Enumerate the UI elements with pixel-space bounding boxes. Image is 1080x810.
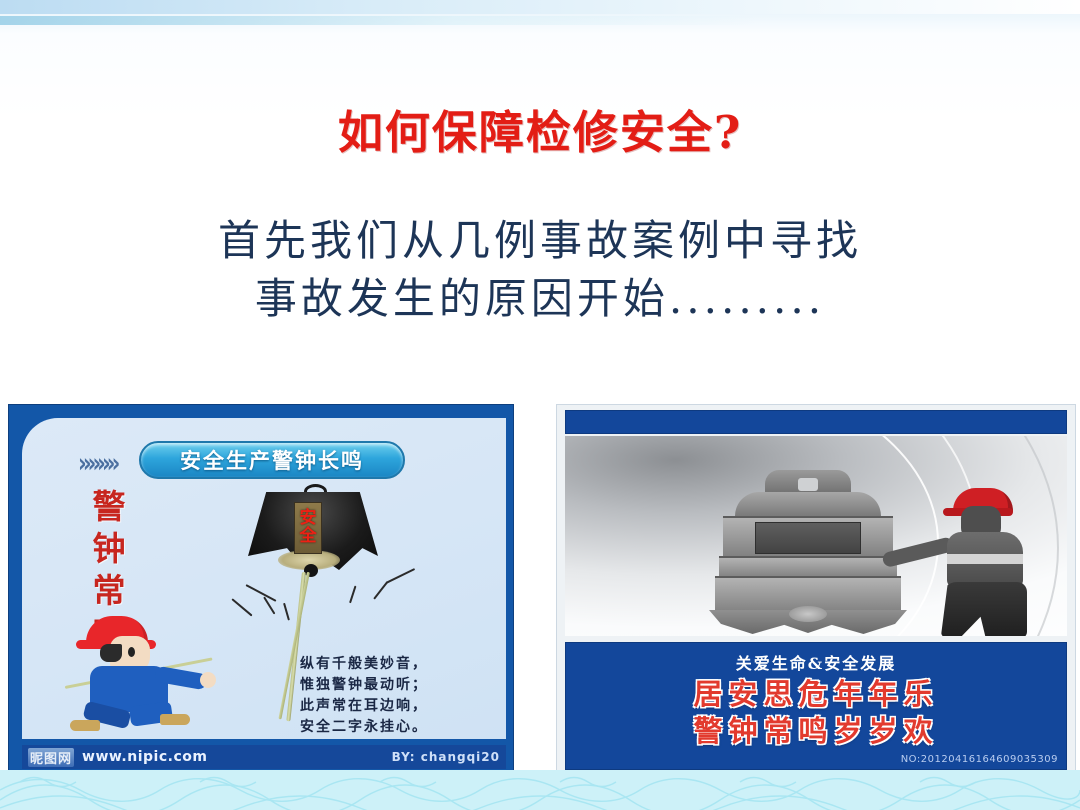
poster-right-subtitle: 关爱生命&安全发展 — [736, 650, 896, 674]
poster-left-poem: 纵有千般美妙音， 惟独警钟最动听； 此声常在耳边响， 安全二字永挂心。 — [300, 654, 490, 738]
subtitle-line-1: 首先我们从几例事故案例中寻找 — [218, 216, 862, 265]
chevron-right-icon: »»»» — [78, 448, 116, 478]
bell-label-char-2: 全 — [300, 528, 317, 546]
worker-eye — [128, 647, 135, 657]
bottom-wave-decoration — [0, 770, 1080, 810]
nipic-logo: 昵图网 — [28, 748, 74, 767]
worker-belt — [947, 554, 1023, 564]
slogan-char-2: 钟 — [88, 528, 130, 570]
poster-left-canvas: »»»» 安全生产警钟长鸣 警 钟 常 鸣 安 全 — [22, 418, 506, 739]
poster-right-top-bar — [565, 410, 1067, 434]
sound-ray — [386, 568, 416, 584]
worker-shoe-left — [70, 720, 100, 731]
sound-ray — [283, 603, 290, 621]
cartoon-bell-icon: 安 全 — [218, 476, 408, 636]
sound-ray — [246, 584, 277, 602]
poem-line: 惟独警钟最动听； — [300, 675, 490, 696]
wave-pattern-icon — [0, 770, 1080, 810]
cartoon-worker — [60, 614, 240, 739]
ancient-bell-photo — [693, 470, 923, 620]
sound-ray — [373, 581, 388, 600]
poster-left-banner-text: 安全生产警钟长鸣 — [180, 445, 364, 475]
poem-line: 安全二字永挂心。 — [300, 717, 490, 738]
slide-background: 如何保障检修安全? 首先我们从几例事故案例中寻找 事故发生的原因开始......… — [0, 0, 1080, 810]
poster-left-banner: 安全生产警钟长鸣 — [139, 441, 405, 479]
nipic-url: www.nipic.com — [82, 749, 207, 765]
top-accent-streak — [0, 16, 756, 25]
poster-left-footer: 昵图网 www.nipic.com BY: changqi20 — [22, 745, 506, 769]
slogan-char-3: 常 — [88, 570, 130, 612]
author-credit: BY: changqi20 — [392, 750, 500, 764]
subtitle-line-2: 事故发生的原因开始......... — [0, 270, 1080, 328]
worker-shoe-right — [160, 714, 190, 725]
bell-strike-boss — [789, 606, 827, 622]
poster-row: »»»» 安全生产警钟长鸣 警 钟 常 鸣 安 全 — [0, 404, 1080, 776]
poem-line: 纵有千般美妙音， — [300, 654, 490, 675]
poster-right-safety-bell: 关爱生命&安全发展 居安思危年年乐 警钟常鸣岁岁欢 NO:20120416164… — [556, 404, 1076, 776]
worker-legs-silhouette — [941, 582, 1027, 636]
poster-left-safety-bell: »»»» 安全生产警钟长鸣 警 钟 常 鸣 安 全 — [8, 404, 514, 776]
poster-right-headline-line-1: 居安思危年年乐 — [693, 677, 938, 711]
sound-ray — [349, 586, 356, 604]
page-subtitle: 首先我们从几例事故案例中寻找 事故发生的原因开始......... — [0, 212, 1080, 328]
page-title: 如何保障检修安全? — [0, 96, 1080, 161]
poem-line: 此声常在耳边响， — [300, 696, 490, 717]
bell-label-plate: 安 全 — [294, 502, 322, 554]
bell-panel — [755, 522, 861, 554]
worker-hand — [200, 672, 216, 688]
poster-right-photo — [565, 436, 1067, 636]
worker-hair — [100, 644, 122, 662]
poster-right-serial-number: NO:20120416164609035309 — [901, 754, 1058, 765]
top-gradient-band — [0, 0, 1080, 14]
poster-right-caption-panel: 关爱生命&安全发展 居安思危年年乐 警钟常鸣岁岁欢 NO:20120416164… — [565, 642, 1067, 770]
slogan-char-1: 警 — [88, 486, 130, 528]
poster-right-headline-line-2: 警钟常鸣岁岁欢 — [693, 714, 938, 748]
worker-striking-bell — [931, 488, 1041, 636]
bell-shoulder — [735, 492, 881, 518]
